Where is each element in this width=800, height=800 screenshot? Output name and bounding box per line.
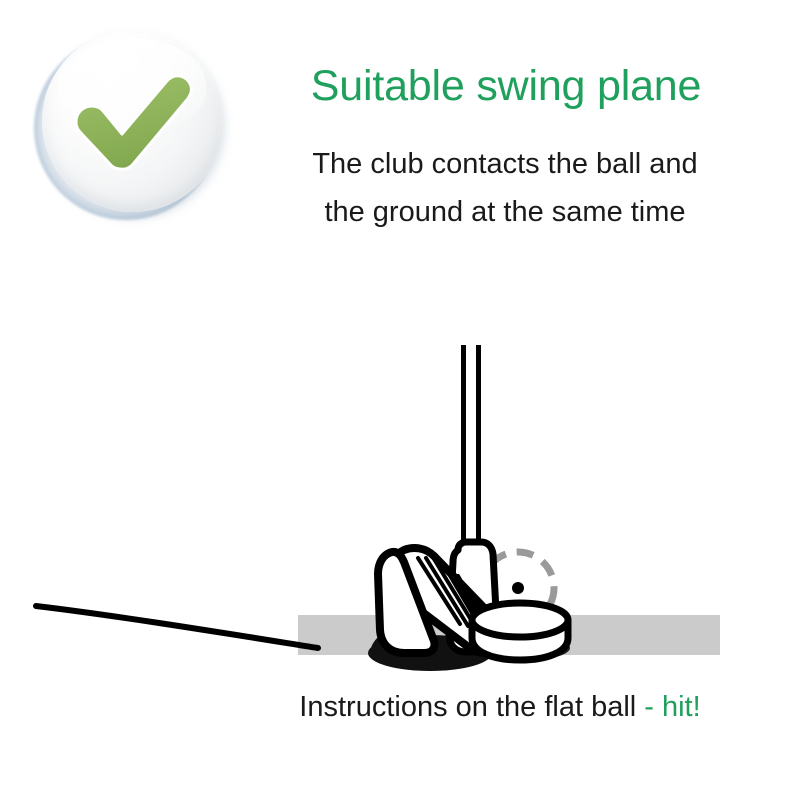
golf-club-impact-diagram bbox=[0, 300, 800, 680]
subtitle-line-2: the ground at the same time bbox=[230, 188, 780, 236]
page-title: Suitable swing plane bbox=[252, 60, 760, 112]
caption-text-green: - hit! bbox=[636, 691, 700, 723]
caption: Instructions on the flat ball - hit! bbox=[180, 688, 800, 726]
caption-text-black: Instructions on the flat ball bbox=[299, 691, 636, 723]
check-circle-icon bbox=[28, 22, 224, 230]
club-shaft-right-rail bbox=[476, 345, 481, 565]
slide-canvas: Suitable swing plane The club contacts t… bbox=[0, 0, 800, 800]
turf-line bbox=[36, 606, 318, 648]
page-subtitle: The club contacts the ball and the groun… bbox=[230, 140, 780, 236]
club-shaft-left-rail bbox=[461, 345, 466, 565]
subtitle-line-1: The club contacts the ball and bbox=[230, 140, 780, 188]
flattened-ball-top bbox=[472, 603, 568, 637]
checkmark-glyph bbox=[42, 30, 224, 212]
ball-center-dot bbox=[512, 582, 524, 594]
